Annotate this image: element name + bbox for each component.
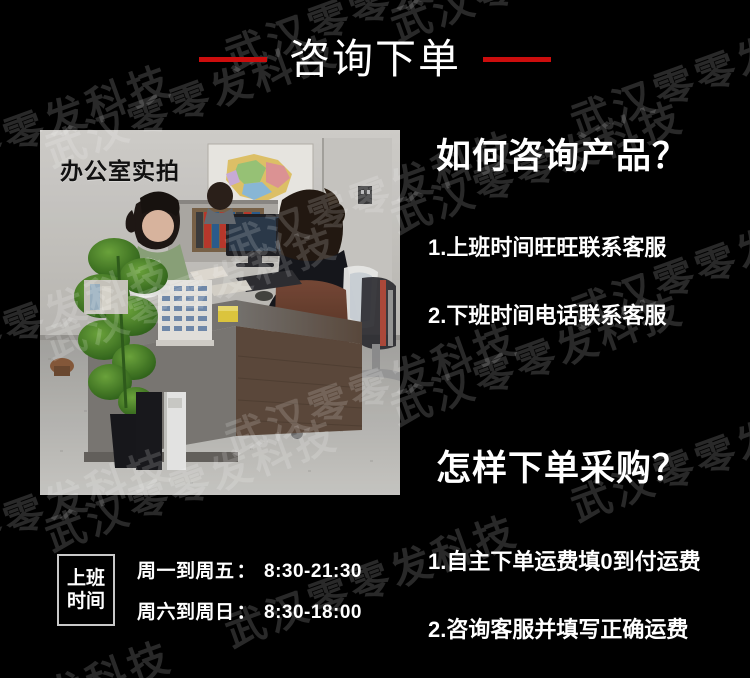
business-hours: 上班 时间 周一到周五 ： 8:30-21:30 周六到周日 ： 8:30-18… [57, 552, 397, 628]
business-hours-badge: 上班 时间 [57, 554, 115, 626]
office-photo-caption: 办公室实拍 [60, 152, 180, 186]
title-rule-left [199, 57, 267, 62]
title-rule-right [483, 57, 551, 62]
section-how-to-order-heading: 怎样下单采购？ [436, 450, 738, 489]
business-hours-item: 周六到周日 ： 8:30-18:00 [137, 597, 362, 624]
business-hours-time: 8:30-18:00 [264, 602, 362, 624]
step-item: 2.咨询客服并填写正确运费 [428, 619, 738, 641]
business-hours-days: 周一到周五 [137, 556, 235, 583]
office-photo: 办公室实拍 [40, 130, 400, 495]
business-hours-badge-line2: 时间 [67, 592, 105, 611]
page-title: 咨询下单 [289, 39, 461, 80]
watermark-text: 武汉零零发科技武汉零零发科技武汉零零发科技 [0, 0, 750, 16]
section-how-to-consult-heading: 如何咨询产品？ [436, 138, 738, 177]
promo-page: 咨询下单 [0, 0, 750, 678]
info-column: 如何咨询产品？ 1.上班时间旺旺联系客服 2.下班时间电话联系客服 怎样下单采购… [428, 130, 738, 650]
business-hours-separator: ： [237, 556, 257, 583]
section-how-to-consult-steps: 1.上班时间旺旺联系客服 2.下班时间电话联系客服 [428, 237, 738, 327]
step-item: 1.上班时间旺旺联系客服 [428, 237, 738, 259]
step-item: 2.下班时间电话联系客服 [428, 305, 738, 327]
page-header: 咨询下单 [0, 28, 750, 90]
section-how-to-order-steps: 1.自主下单运费填0到付运费 2.咨询客服并填写正确运费 [428, 551, 738, 641]
business-hours-list: 周一到周五 ： 8:30-21:30 周六到周日 ： 8:30-18:00 [137, 556, 362, 624]
business-hours-days: 周六到周日 [137, 597, 235, 624]
section-how-to-order: 怎样下单采购？ 1.自主下单运费填0到付运费 2.咨询客服并填写正确运费 [428, 450, 738, 641]
business-hours-badge-line1: 上班 [67, 569, 105, 588]
business-hours-separator: ： [237, 597, 257, 624]
business-hours-item: 周一到周五 ： 8:30-21:30 [137, 556, 362, 583]
section-how-to-consult: 如何咨询产品？ 1.上班时间旺旺联系客服 2.下班时间电话联系客服 [428, 138, 738, 327]
step-item: 1.自主下单运费填0到付运费 [428, 551, 738, 573]
business-hours-time: 8:30-21:30 [264, 561, 362, 583]
